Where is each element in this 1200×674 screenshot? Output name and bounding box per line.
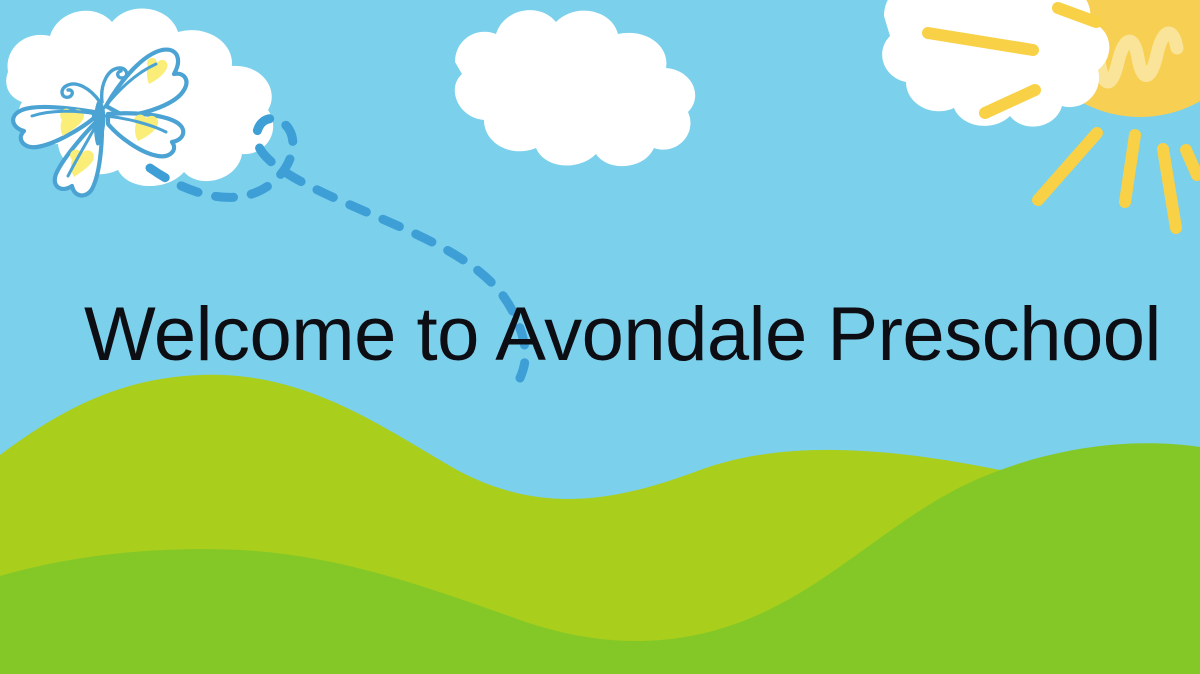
presentation-slide: Welcome to Avondale Preschool [0, 0, 1200, 674]
slide-artwork [0, 0, 1200, 674]
